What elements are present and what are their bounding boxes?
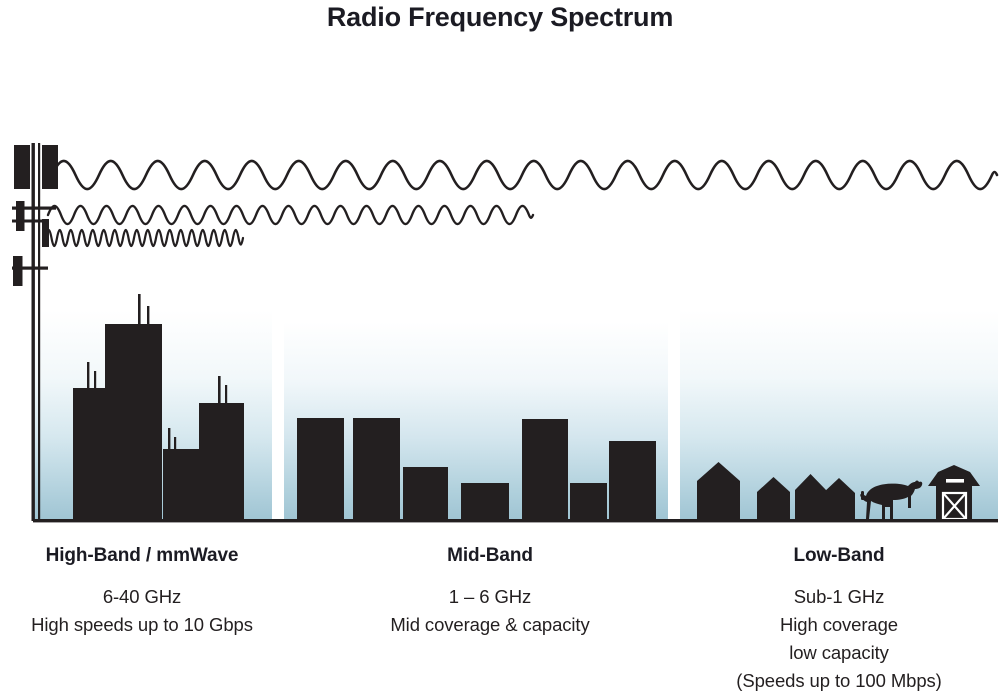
band-detail-low-band-2: low capacity — [678, 639, 1000, 667]
barn-window — [946, 479, 964, 483]
high-band-antenna-panel-right — [42, 145, 58, 189]
skyscraper — [199, 403, 244, 521]
skyscraper-spire — [218, 376, 221, 406]
mid-band-antenna-panel — [16, 201, 25, 231]
skyscraper — [163, 449, 203, 521]
midrise-building — [297, 418, 344, 521]
band-detail-mid-band: Mid coverage & capacity — [330, 611, 650, 639]
band-column-low: Low-Band Sub-1 GHz High coverage low cap… — [678, 545, 1000, 695]
band-detail-high-band: High speeds up to 10 Gbps — [0, 611, 284, 639]
midrise-building — [609, 441, 656, 521]
band-title-high-band: High-Band / mmWave — [0, 545, 284, 567]
barn-door — [941, 491, 968, 521]
skyscraper-spire — [87, 362, 89, 392]
low-band-wave — [52, 161, 997, 189]
tower-mast-rail-left — [32, 143, 35, 521]
band-detail-low-band-1: High coverage — [678, 611, 1000, 639]
band-frequency-high-band: 6-40 GHz — [0, 583, 284, 611]
high-band-wave — [46, 230, 243, 246]
tower-mast-rail-right — [38, 143, 40, 521]
high-freq-antenna-panel — [42, 219, 49, 247]
band-frequency-mid-band: 1 – 6 GHz — [330, 583, 650, 611]
midrise-building — [570, 483, 607, 521]
band-column-mid: Mid-Band 1 – 6 GHz Mid coverage & capaci… — [330, 545, 650, 639]
band-detail-low-band-3: (Speeds up to 100 Mbps) — [678, 667, 1000, 695]
radio-waves — [46, 161, 997, 246]
infographic-canvas: Radio Frequency Spectrum — [0, 0, 1000, 700]
skyscraper-spire — [168, 428, 170, 452]
band-label-group: High-Band / mmWave 6-40 GHz High speeds … — [0, 545, 1000, 700]
midrise-building — [353, 418, 400, 521]
skyscraper — [105, 324, 162, 521]
high-band-antenna-panel-left — [14, 145, 30, 189]
band-title-mid-band: Mid-Band — [330, 545, 650, 567]
band-frequency-low-band: Sub-1 GHz — [678, 583, 1000, 611]
midrise-building — [403, 467, 448, 521]
ground-line — [33, 519, 998, 522]
skyscraper-spire — [138, 294, 141, 326]
midrise-building — [461, 483, 509, 521]
low-band-antenna-panel — [13, 256, 23, 286]
band-title-low-band: Low-Band — [678, 545, 1000, 567]
mid-band-wave — [48, 206, 533, 224]
band-column-high: High-Band / mmWave 6-40 GHz High speeds … — [0, 545, 284, 639]
midrise-building — [522, 419, 568, 521]
